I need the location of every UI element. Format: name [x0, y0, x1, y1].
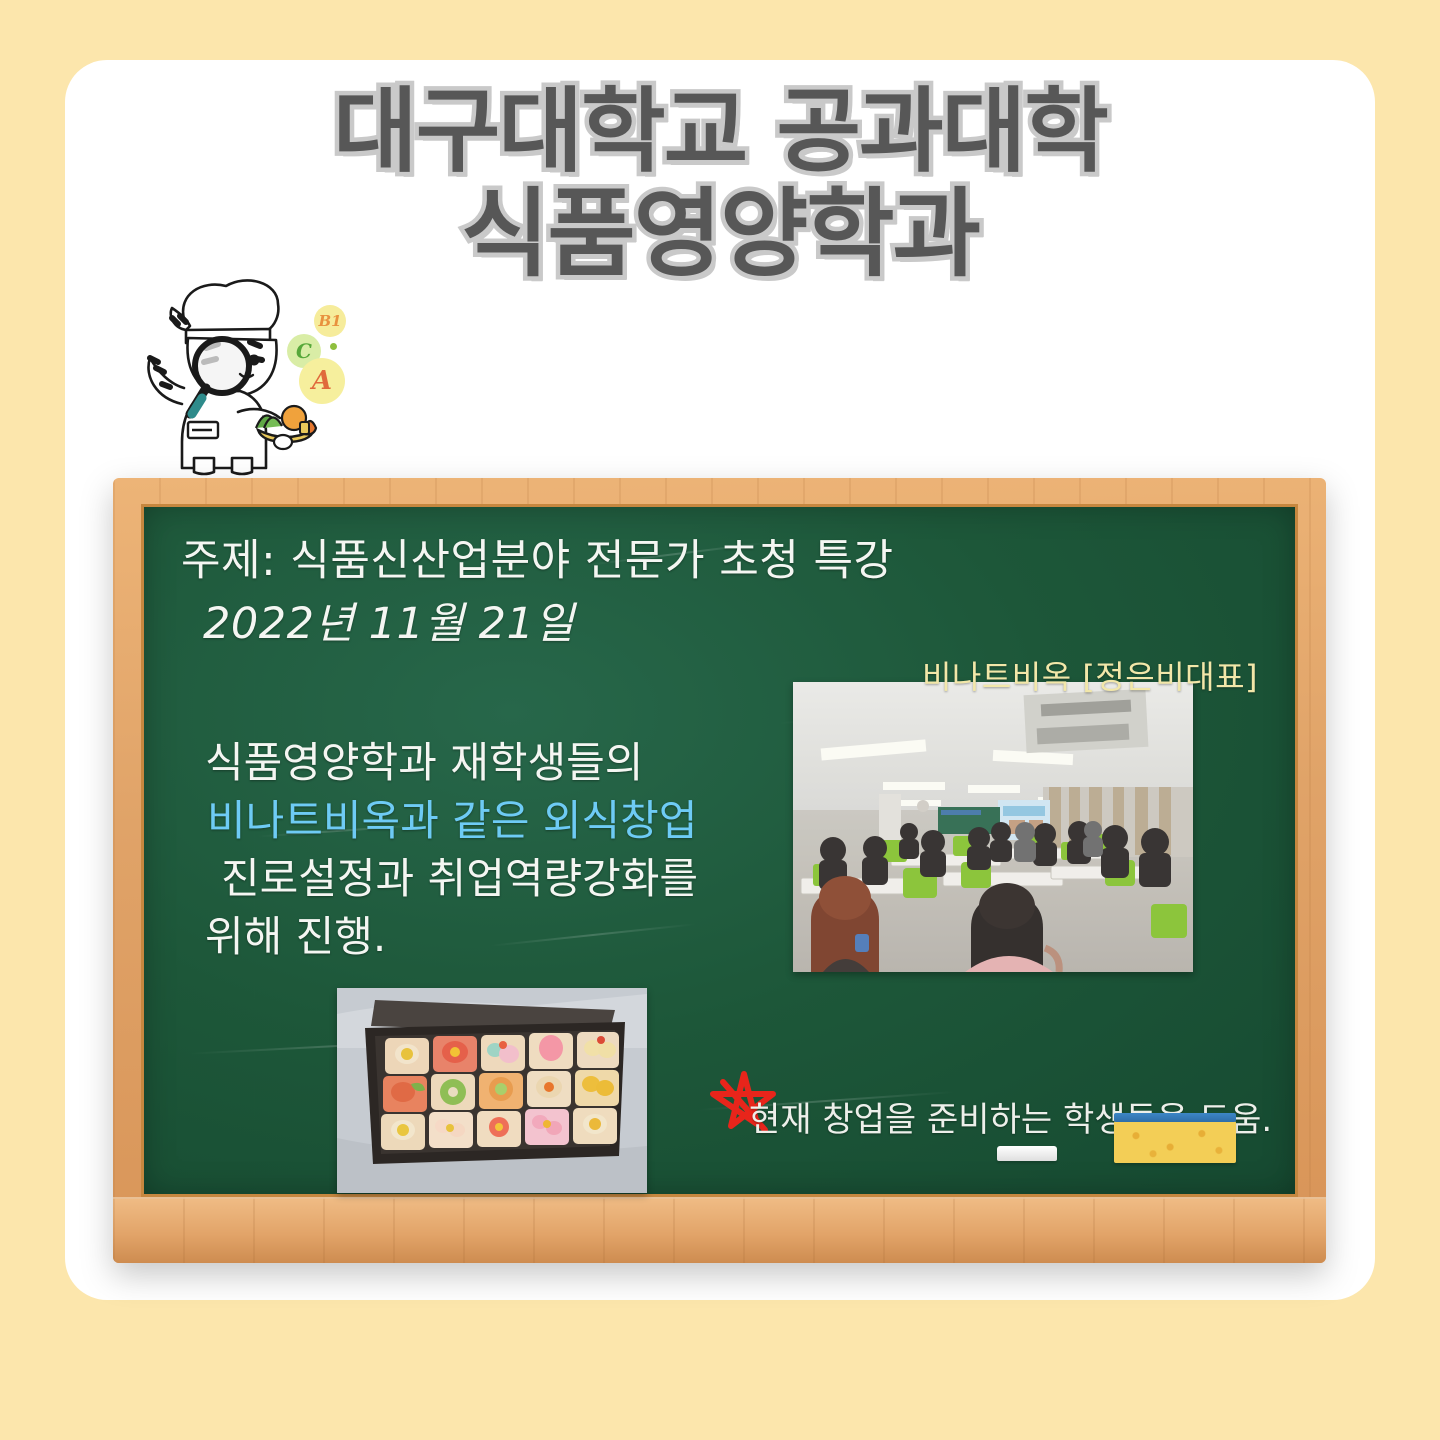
rice-cake-box-photo — [337, 988, 647, 1193]
poster-root: 대구대학교 공과대학 식품영양학과 — [0, 0, 1440, 1440]
body-line-3: 진로설정과 취업역량강화를 — [205, 850, 698, 908]
body-line-1: 식품영양학과 재학생들의 — [205, 734, 698, 792]
body-paragraph: 식품영양학과 재학생들의 비나트비옥과 같은 외식창업 진로설정과 취업역량강화… — [205, 734, 698, 966]
vitamin-a-icon: A — [299, 358, 345, 404]
body-line-4: 위해 진행. — [205, 908, 698, 966]
blackboard: 주제: 식품신산업분야 전문가 초청 특강 2022년 11월 21일 비나트비… — [113, 478, 1326, 1263]
lecture-hall-photo — [793, 682, 1193, 972]
vitamin-dot-icon — [330, 343, 337, 350]
blackboard-surface: 주제: 식품신산업분야 전문가 초청 특강 2022년 11월 21일 비나트비… — [141, 504, 1298, 1197]
chalk-stick-icon — [997, 1146, 1057, 1161]
vitamin-bubbles: B1 C A — [283, 300, 398, 415]
speaker-caption: 비나트비옥 [정은비대표] — [922, 652, 1258, 698]
vitamin-b1-icon: B1 — [314, 305, 346, 337]
subject-line: 주제: 식품신산업분야 전문가 초청 특강 — [181, 526, 894, 588]
sponge-eraser-icon — [1114, 1121, 1236, 1163]
date-line: 2022년 11월 21일 — [203, 589, 574, 651]
body-line-2: 비나트비옥과 같은 외식창업 — [205, 792, 698, 850]
